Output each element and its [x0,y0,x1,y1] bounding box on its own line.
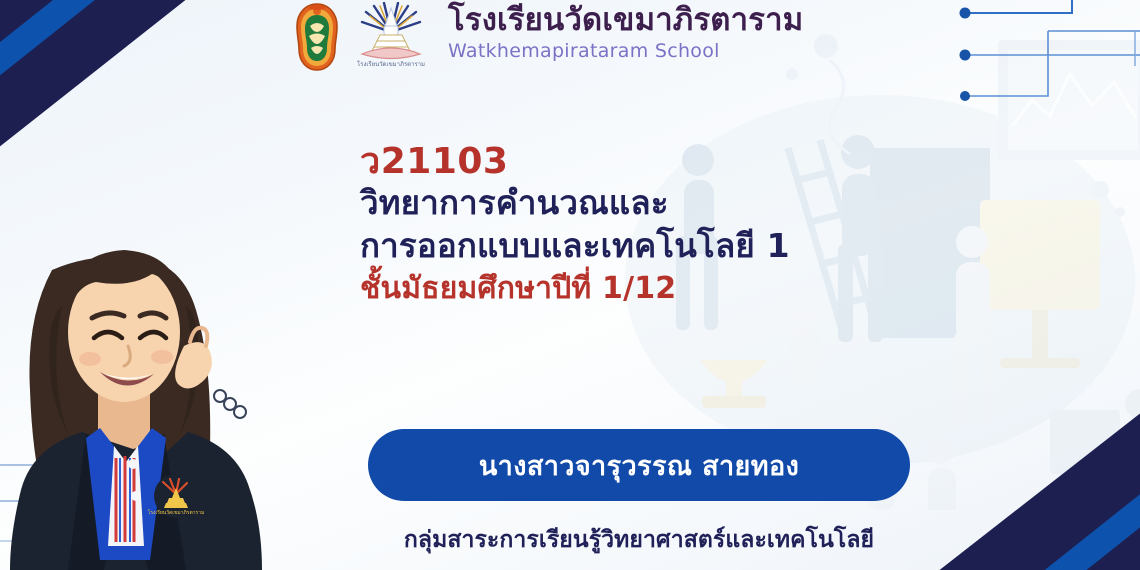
course-subject-line-2: การออกแบบและเทคโนโลยี 1 [360,225,920,267]
svg-text:โรงเรียนวัดเขมาภิรตาราม: โรงเรียนวัดเขมาภิรตาราม [357,60,425,68]
course-grade-level: ชั้นมัธยมศึกษาปีที่ 1/12 [360,269,920,308]
presentation-slide: โรงเรียนวัดเขมาภิรตาราม โรงเรียนวัดเขมาภ… [0,0,1140,570]
teacher-name: นางสาวจารุวรรณ สายทอง [479,444,799,487]
teacher-name-badge: นางสาวจารุวรรณ สายทอง [368,429,910,501]
teacher-department: กลุ่มสาระการเรียนรู้วิทยาศาสตร์และเทคโนโ… [368,522,910,558]
teacher-portrait: โรงเรียนวัดเขมาภิรตาราม [0,196,262,570]
course-subject-line-1: วิทยาการคำนวณและ [360,182,920,224]
ministry-of-education-emblem [288,2,346,72]
school-name-english: Watkhemapirataram School [448,39,803,64]
course-code: ว21103 [360,142,920,182]
course-title-block: ว21103 วิทยาการคำนวณและ การออกแบบและเทคโ… [360,142,920,308]
watkhemapirataram-school-emblem: โรงเรียนวัดเขมาภิรตาราม [354,2,428,72]
school-branding: โรงเรียนวัดเขมาภิรตาราม โรงเรียนวัดเขมาภ… [288,2,803,72]
circuit-lines-decoration [930,0,1140,140]
school-name-thai: โรงเรียนวัดเขมาภิรตาราม [448,4,803,37]
svg-text:โรงเรียนวัดเขมาภิรตาราม: โรงเรียนวัดเขมาภิรตาราม [148,509,205,516]
